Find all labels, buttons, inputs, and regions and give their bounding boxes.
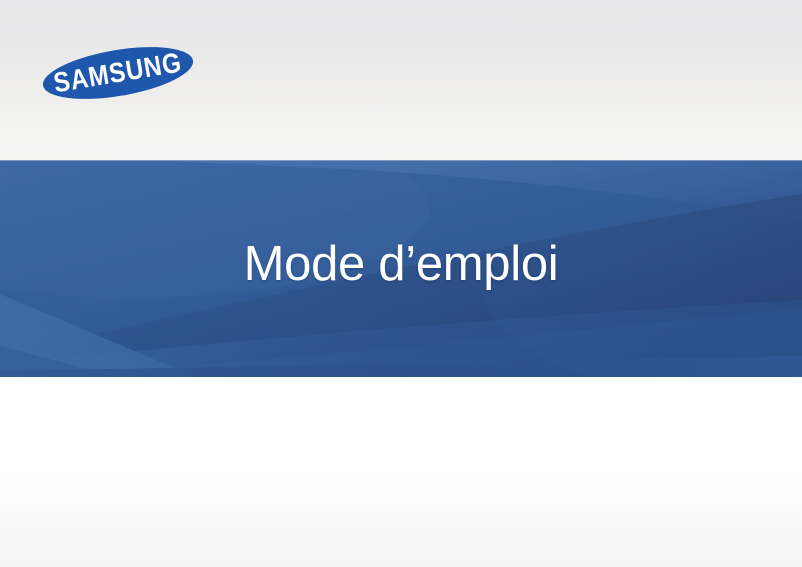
samsung-logo: SAMSUNG (42, 50, 194, 96)
samsung-logo-label: SAMSUNG (52, 49, 184, 98)
title-banner: Mode d’emploi (0, 160, 802, 377)
manual-cover-page: SAMSUNG (0, 0, 802, 567)
page-title: Mode d’emploi (244, 240, 559, 289)
page-title-container: Mode d’emploi (0, 160, 802, 377)
page-footer: www.samsung.com (0, 377, 802, 567)
